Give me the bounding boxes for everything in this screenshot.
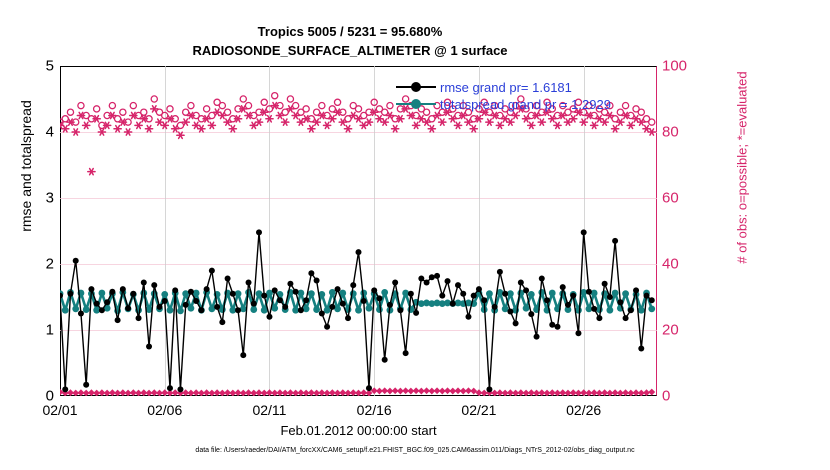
x-tick-02-21: 02/21 xyxy=(444,402,514,418)
y-tick-right-60: 60 xyxy=(662,190,702,207)
y-tick-right-40: 40 xyxy=(662,256,702,273)
figure-container: Tropics 5005 / 5231 = 95.680% RADIOSONDE… xyxy=(0,0,830,470)
chart-title-line2: RADIOSONDE_SURFACE_ALTIMETER @ 1 surface xyxy=(0,43,700,58)
x-axis-label: Feb.01.2012 00:00:00 start xyxy=(60,423,657,438)
y-axis-left-label: rmse and totalspread xyxy=(18,46,34,286)
legend-marker-rmse-icon xyxy=(396,80,436,94)
x-tick-02-06: 02/06 xyxy=(130,402,200,418)
y-tick-left-1: 1 xyxy=(8,322,54,339)
data-file-note: data file: /Users/raeder/DAI/ATM_forcXX/… xyxy=(0,447,830,454)
x-tick-02-11: 02/11 xyxy=(234,402,304,418)
legend-marker-totalspread-icon xyxy=(396,97,436,111)
legend-label-totalspread: totalspread grand pr = 1.2929 xyxy=(440,97,611,112)
y-tick-right-20: 20 xyxy=(662,322,702,339)
legend-label-rmse: rmse grand pr= 1.6181 xyxy=(440,80,572,95)
x-tick-02-01: 02/01 xyxy=(25,402,95,418)
y-tick-right-0: 0 xyxy=(662,388,702,405)
y-tick-right-100: 100 xyxy=(662,58,702,75)
y-axis-right-ticks: 020406080100 xyxy=(662,66,706,396)
x-tick-02-26: 02/26 xyxy=(549,402,619,418)
x-axis-ticks: 02/0102/0602/1102/1602/2102/26 xyxy=(60,402,657,422)
legend: rmse grand pr= 1.6181 totalspread grand … xyxy=(396,78,646,116)
legend-item-rmse[interactable]: rmse grand pr= 1.6181 xyxy=(396,78,572,96)
y-tick-right-80: 80 xyxy=(662,124,702,141)
legend-item-totalspread[interactable]: totalspread grand pr = 1.2929 xyxy=(396,95,611,113)
chart-title-line1: Tropics 5005 / 5231 = 95.680% xyxy=(0,24,700,39)
y-axis-right-label: # of obs: o=possible; *=evaluated xyxy=(735,18,750,318)
x-tick-02-16: 02/16 xyxy=(339,402,409,418)
